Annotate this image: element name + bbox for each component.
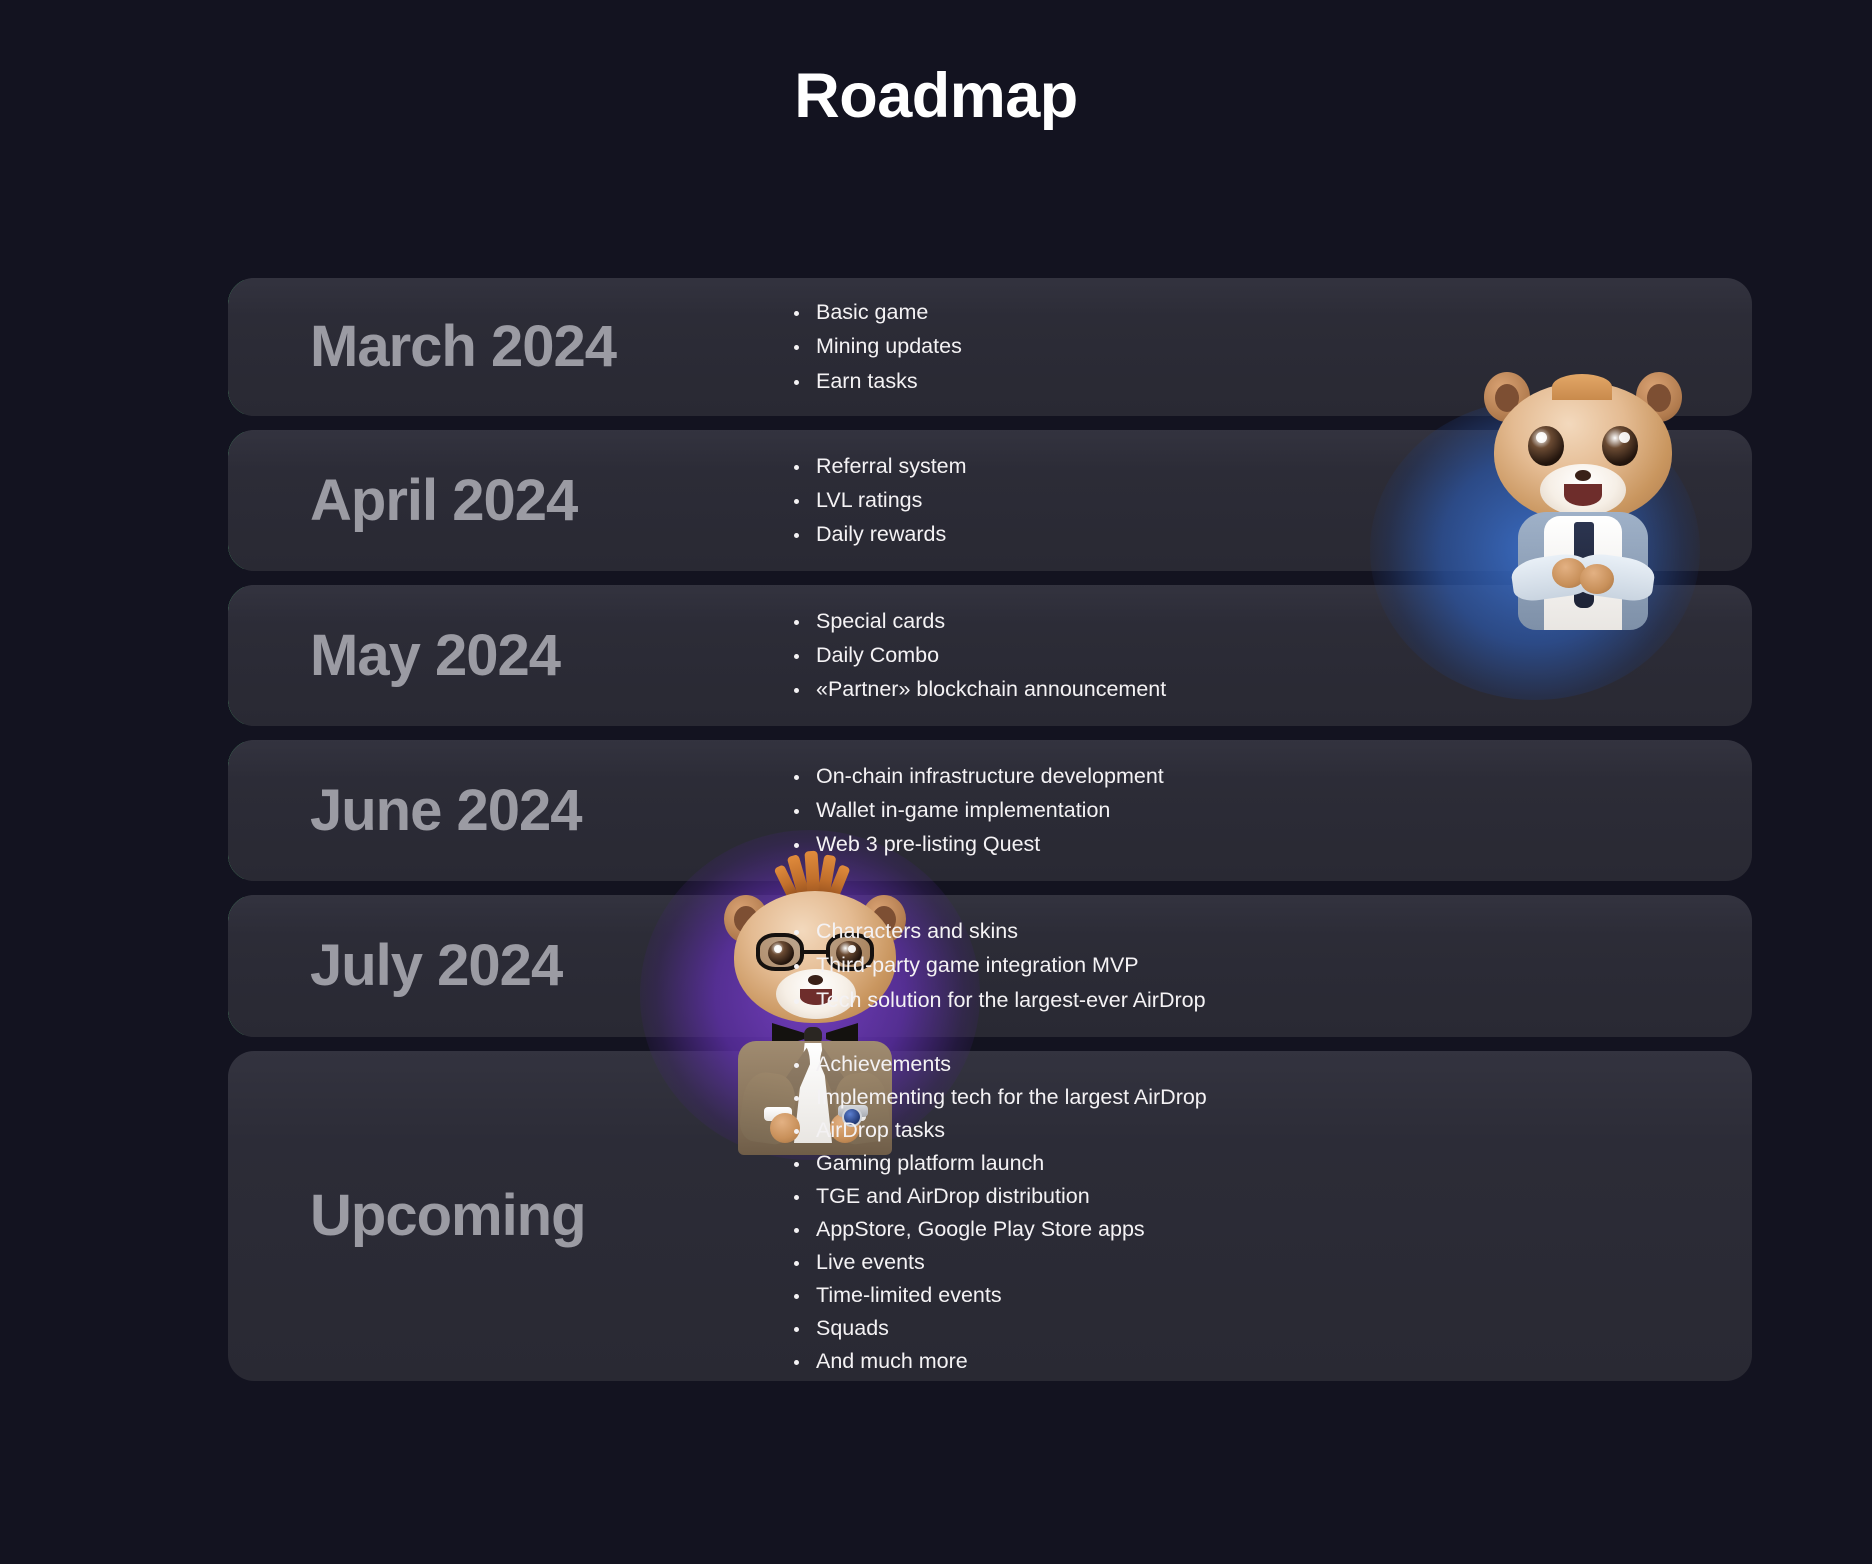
list-item: Wallet in-game implementation: [788, 797, 1164, 824]
list-item: TGE and AirDrop distribution: [788, 1183, 1207, 1210]
list-item: Third-party game integration MVP: [788, 952, 1206, 979]
card-month-label: May 2024: [228, 627, 788, 685]
roadmap-card-march[interactable]: March 2024 Basic game Mining updates Ear…: [228, 278, 1752, 416]
card-bullet-list: Characters and skins Third-party game in…: [788, 918, 1206, 1014]
list-item: Special cards: [788, 608, 1166, 635]
roadmap-card-list: March 2024 Basic game Mining updates Ear…: [228, 278, 1752, 1395]
card-month-label: April 2024: [228, 472, 788, 530]
card-bullet-list: Basic game Mining updates Earn tasks: [788, 299, 962, 395]
card-bullet-list: Special cards Daily Combo «Partner» bloc…: [788, 608, 1166, 704]
card-month-label: March 2024: [228, 318, 788, 376]
roadmap-page: Roadmap March 2024 Basic game Mining upd…: [0, 0, 1872, 1564]
roadmap-card-july[interactable]: July 2024 Characters and skins Third-par…: [228, 895, 1752, 1037]
list-item: Referral system: [788, 453, 967, 480]
page-title: Roadmap: [0, 0, 1872, 132]
list-item: Mining updates: [788, 333, 962, 360]
list-item: Daily Combo: [788, 642, 1166, 669]
list-item: Tech solution for the largest-ever AirDr…: [788, 987, 1206, 1014]
list-item: Daily rewards: [788, 521, 967, 548]
card-month-label: June 2024: [228, 782, 788, 840]
list-item: Achievements: [788, 1051, 1207, 1078]
list-item: AppStore, Google Play Store apps: [788, 1216, 1207, 1243]
list-item: Characters and skins: [788, 918, 1206, 945]
roadmap-card-april[interactable]: April 2024 Referral system LVL ratings D…: [228, 430, 1752, 571]
list-item: Gaming platform launch: [788, 1150, 1207, 1177]
list-item: Web 3 pre-listing Quest: [788, 831, 1164, 858]
roadmap-card-upcoming[interactable]: Upcoming Achievements Implementing tech …: [228, 1051, 1752, 1381]
list-item: Earn tasks: [788, 368, 962, 395]
list-item: Live events: [788, 1249, 1207, 1276]
card-bullet-list: On-chain infrastructure development Wall…: [788, 763, 1164, 859]
roadmap-card-june[interactable]: June 2024 On-chain infrastructure develo…: [228, 740, 1752, 881]
roadmap-card-may[interactable]: May 2024 Special cards Daily Combo «Part…: [228, 585, 1752, 726]
list-item: And much more: [788, 1348, 1207, 1375]
list-item: Squads: [788, 1315, 1207, 1342]
card-bullet-list: Referral system LVL ratings Daily reward…: [788, 453, 967, 549]
list-item: Implementing tech for the largest AirDro…: [788, 1084, 1207, 1111]
card-month-label: July 2024: [228, 937, 788, 995]
card-bullet-list: Achievements Implementing tech for the l…: [788, 1051, 1207, 1381]
list-item: «Partner» blockchain announcement: [788, 676, 1166, 703]
card-month-label: Upcoming: [228, 1187, 788, 1245]
list-item: Time-limited events: [788, 1282, 1207, 1309]
list-item: LVL ratings: [788, 487, 967, 514]
list-item: On-chain infrastructure development: [788, 763, 1164, 790]
list-item: Basic game: [788, 299, 962, 326]
list-item: AirDrop tasks: [788, 1117, 1207, 1144]
